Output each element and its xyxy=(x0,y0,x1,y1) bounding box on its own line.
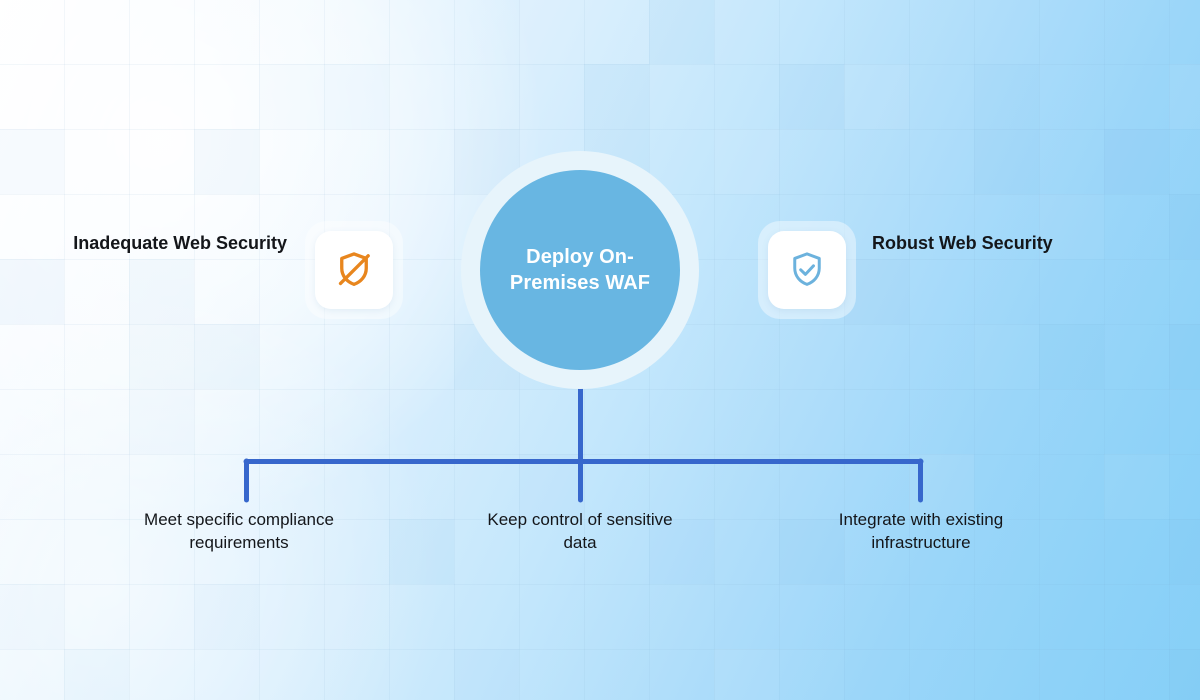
icon-card-inner-right xyxy=(768,231,846,309)
branch-label-sensitive-data: Keep control of sensitive data xyxy=(470,509,690,555)
branch-label-infrastructure: Integrate with existing infrastructure xyxy=(790,509,1052,555)
side-label-inadequate-web-security: Inadequate Web Security xyxy=(60,231,287,256)
branch-label-compliance: Meet specific compliance requirements xyxy=(108,509,370,555)
icon-card-inner-left xyxy=(315,231,393,309)
center-node-label: Deploy On-Premises WAF xyxy=(495,244,665,297)
icon-card-robust-web-security[interactable] xyxy=(758,221,856,319)
center-node-core: Deploy On-Premises WAF xyxy=(480,170,680,370)
shield-off-icon xyxy=(333,249,375,291)
center-node[interactable]: Deploy On-Premises WAF xyxy=(461,151,699,389)
icon-card-inadequate-web-security[interactable] xyxy=(305,221,403,319)
diagram-canvas: Inadequate Web Security Robust Web Secur… xyxy=(0,0,1200,700)
side-label-robust-web-security: Robust Web Security xyxy=(872,231,1122,256)
shield-check-icon xyxy=(786,249,828,291)
